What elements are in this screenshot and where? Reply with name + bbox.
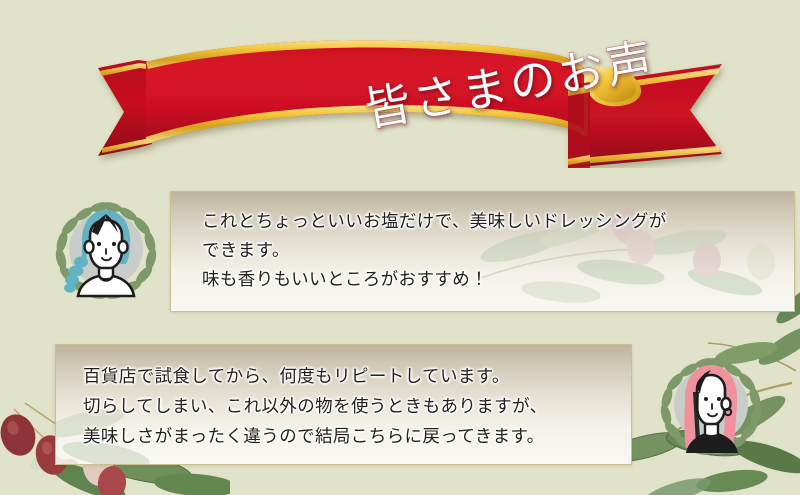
avatar-customer-pink-hair <box>653 348 769 464</box>
ribbon-banner: 皆さまのお声 <box>90 18 730 168</box>
testimonial-2-line-3: 美味しさがまったく違うので結局こちらに戻ってきます。 <box>83 422 631 452</box>
testimonial-card-2: 百貨店で試食してから、何度もリピートしています。 切らしてしまい、これ以外の物を… <box>55 344 632 465</box>
eye-left <box>704 397 708 401</box>
ribbon-svg: 皆さまのお声 <box>90 18 730 168</box>
testimonial-2-line-2: 切らしてしまい、これ以外の物を使うときもありますが、 <box>83 392 631 422</box>
testimonial-card-1: これとちょっといいお塩だけで、美味しいドレッシングが できます。 味も香りもいい… <box>170 191 795 312</box>
olive-fruit <box>0 410 41 460</box>
page-root: 皆さまのお声 <box>0 0 800 495</box>
eye-right <box>717 397 721 401</box>
eye-left <box>97 242 101 246</box>
testimonial-1-line-1: これとちょっといいお塩だけで、美味しいドレッシングが <box>202 208 794 237</box>
testimonial-2-line-1: 百貨店で試食してから、何度もリピートしています。 <box>83 362 631 392</box>
avatar-customer-teal-hair <box>48 192 164 308</box>
eye-right <box>112 242 116 246</box>
testimonial-2-text: 百貨店で試食してから、何度もリピートしています。 切らしてしまい、これ以外の物を… <box>56 345 631 452</box>
testimonial-1-line-2: できます。 <box>202 237 794 266</box>
testimonial-1-text: これとちょっといいお塩だけで、美味しいドレッシングが できます。 味も香りもいい… <box>171 192 794 295</box>
testimonial-1-line-3: 味も香りもいいところがおすすめ！ <box>202 266 794 295</box>
